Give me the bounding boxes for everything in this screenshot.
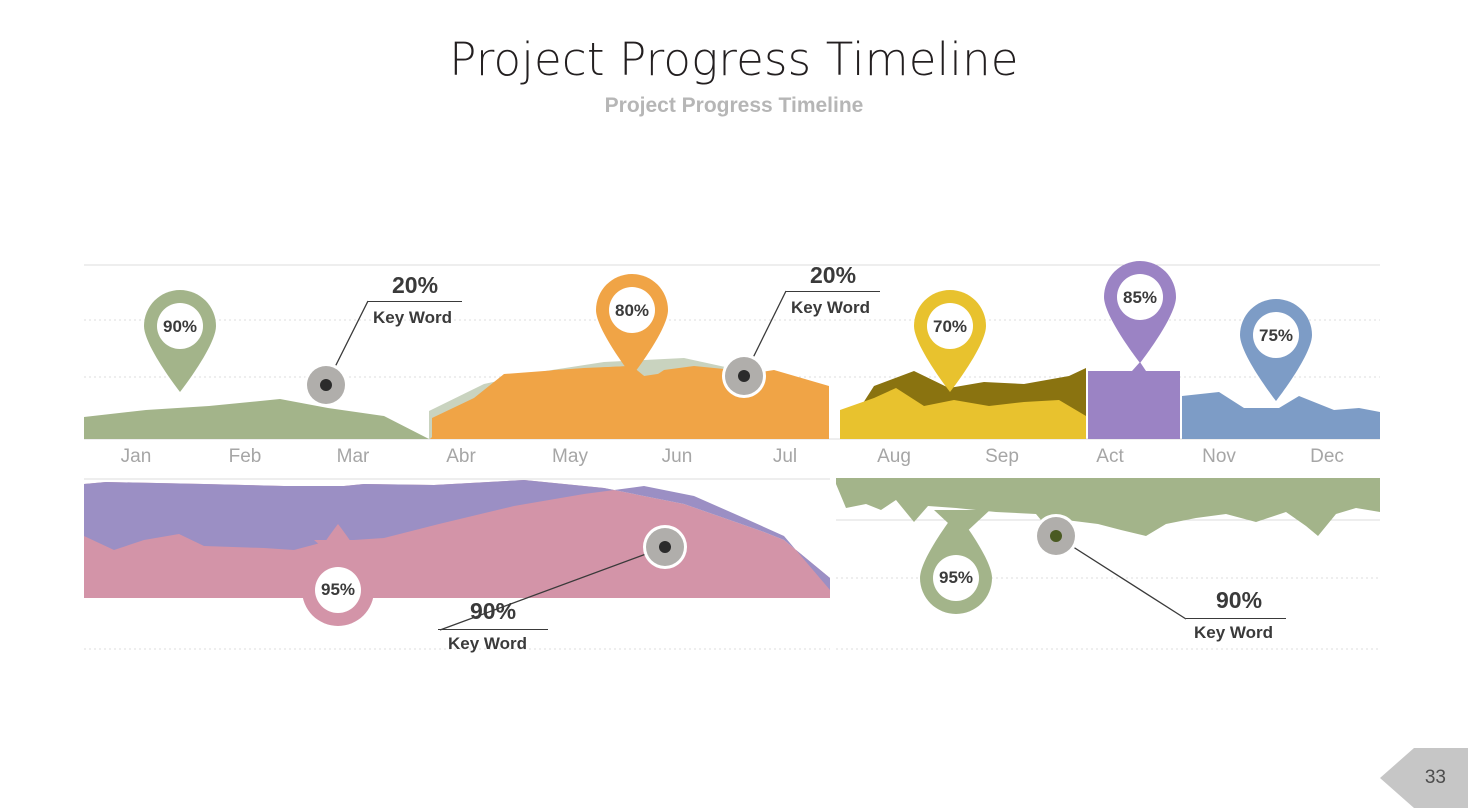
marker-overlay: 90% 80% 70% 85% — [0, 0, 1468, 812]
leader-line-bottom-right — [0, 0, 1468, 812]
slide: Project Progress Timeline Project Progre… — [0, 0, 1468, 812]
callout-br-percent: 90% — [1216, 587, 1262, 614]
callout-br-keyword: Key Word — [1194, 623, 1273, 643]
callout-bottom-right: 90% Key Word — [1186, 589, 1286, 619]
dot-bottom-right[interactable] — [1037, 517, 1075, 555]
dot-core — [1050, 530, 1062, 542]
page-number: 33 — [1425, 767, 1468, 789]
callout-rule — [1186, 618, 1286, 619]
